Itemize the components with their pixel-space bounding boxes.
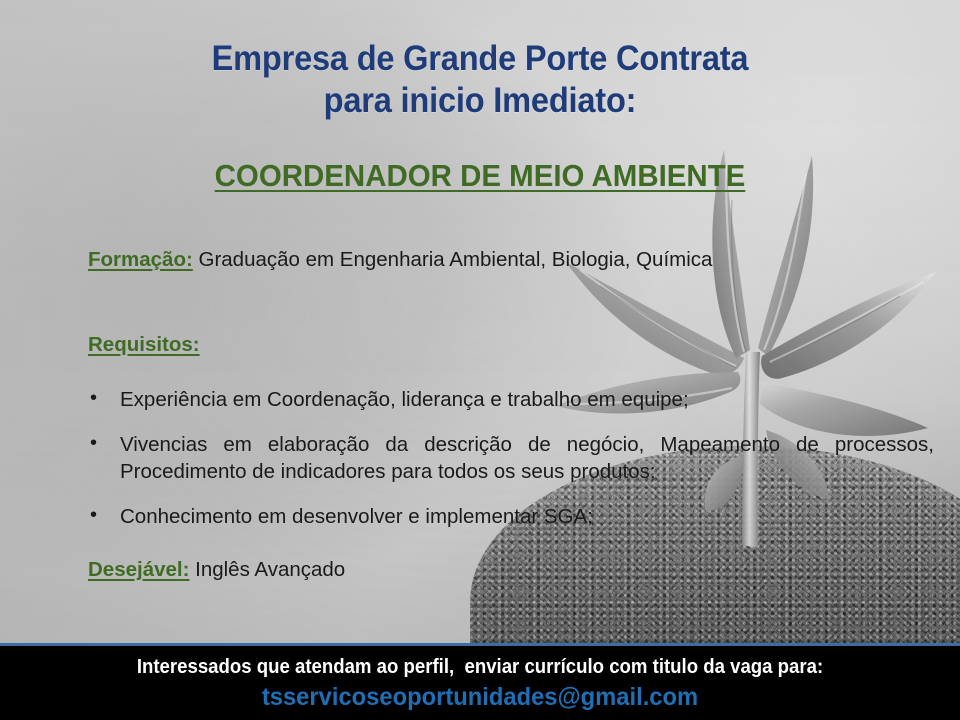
bullet-icon: • — [90, 430, 97, 457]
desejavel-label: Desejável: — [88, 558, 189, 581]
formacao-value: Graduação em Engenharia Ambiental, Biolo… — [193, 248, 713, 271]
title-line-1: Empresa de Grande Porte Contrata — [34, 38, 927, 80]
list-item-text: Experiência em Coordenação, liderança e … — [120, 388, 689, 411]
bullet-icon: • — [90, 385, 97, 412]
spacer-after-formacao — [88, 273, 934, 331]
requisitos-list: • Experiência em Coordenação, liderança … — [88, 386, 934, 530]
spacer-after-requisitos-heading — [88, 358, 934, 386]
list-item-text: Conhecimento em desenvolver e implementa… — [120, 505, 593, 528]
poster-title: Empresa de Grande Porte Contrata para in… — [34, 38, 927, 122]
list-item-text: Vivencias em elaboração da descrição de … — [120, 433, 934, 483]
requisitos-heading-line: Requisitos: — [88, 331, 934, 358]
list-item: • Experiência em Coordenação, liderança … — [88, 386, 934, 413]
formacao-line: Formação: Graduação em Engenharia Ambien… — [88, 246, 934, 273]
role-heading: COORDENADOR DE MEIO AMBIENTE — [24, 157, 936, 195]
title-line-2: para inicio Imediato: — [34, 80, 927, 122]
poster-content: Empresa de Grande Porte Contrata para in… — [0, 0, 960, 720]
requisitos-label: Requisitos: — [88, 331, 200, 358]
spacer-before-desejavel — [88, 530, 934, 556]
footer-instruction-text: Interessados que atendam ao perfil, envi… — [34, 655, 927, 679]
job-posting-poster: Empresa de Grande Porte Contrata para in… — [0, 0, 960, 720]
formacao-label: Formação: — [88, 248, 193, 271]
desejavel-value: Inglês Avançado — [189, 558, 345, 581]
desejavel-line: Desejável: Inglês Avançado — [88, 556, 934, 583]
list-item: • Conhecimento em desenvolver e implemen… — [88, 503, 934, 530]
bullet-icon: • — [90, 502, 97, 529]
contact-email-link[interactable]: tsservicoseoportunidades@gmail.com — [24, 682, 936, 712]
list-item: • Vivencias em elaboração da descrição d… — [88, 431, 934, 485]
role-heading-text: COORDENADOR DE MEIO AMBIENTE — [215, 158, 746, 193]
contact-footer: Interessados que atendam ao perfil, envi… — [0, 643, 960, 720]
poster-body: Formação: Graduação em Engenharia Ambien… — [88, 246, 934, 583]
